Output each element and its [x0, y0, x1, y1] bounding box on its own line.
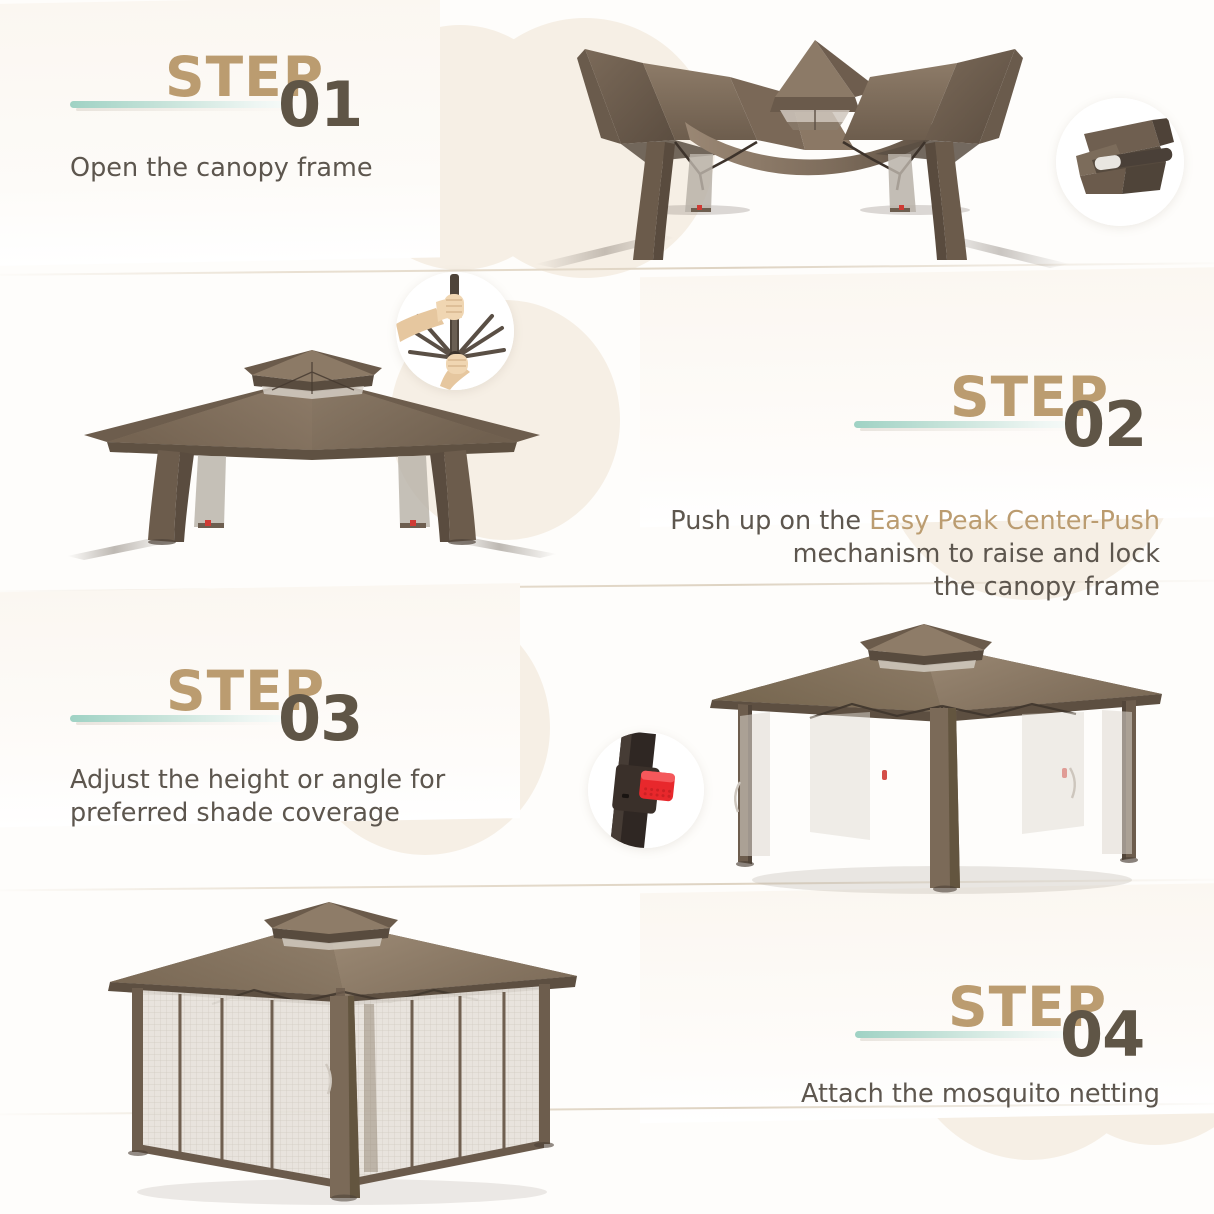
step-block-03: STEP 03 Adjust the height or angle for p… [70, 662, 510, 752]
step-number-label: 04 [1060, 1004, 1144, 1066]
step-heading-02: STEP 02 [640, 368, 1160, 458]
step-description-04: Attach the mosquito netting [760, 1078, 1160, 1111]
step-description-03: Adjust the height or angle for preferred… [70, 764, 510, 830]
infographic-page: STEP 01 Open the canopy frame [0, 0, 1214, 1214]
hand-center-push-illustration [396, 272, 514, 390]
step-heading-03: STEP 03 [70, 662, 510, 752]
gazebo-netting-illustration [82, 892, 600, 1210]
step-block-04: STEP 04 Attach the mosquito netting [760, 978, 1160, 1068]
gazebo-partially-open-illustration [525, 22, 1085, 277]
step-block-01: STEP 01 Open the canopy frame [70, 48, 500, 138]
photo-gazebo-frame-partially-open [525, 22, 1085, 277]
step-description-suffix: mechanism to raise and lock the canopy f… [793, 539, 1160, 602]
corner-pole-detail-inset [1056, 98, 1184, 226]
step-heading-01: STEP 01 [70, 48, 500, 138]
photo-gazebo-full-height [692, 612, 1200, 900]
step-description-prefix: Push up on the [670, 506, 869, 536]
photo-gazebo-with-mosquito-netting [82, 892, 600, 1210]
step-number-label: 03 [278, 688, 362, 750]
step-number-label: 01 [278, 74, 362, 136]
red-lever-illustration [588, 732, 704, 848]
step-description-01: Open the canopy frame [70, 152, 500, 185]
gazebo-full-height-illustration [692, 612, 1200, 900]
step-heading-04: STEP 04 [760, 978, 1160, 1068]
step-description-highlight: Easy Peak Center-Push [869, 506, 1160, 536]
step-description-02: Push up on the Easy Peak Center-Push mec… [640, 472, 1160, 605]
step-block-02: STEP 02 Push up on the Easy Peak Center-… [640, 368, 1160, 458]
corner-pole-detail-illustration [1056, 98, 1184, 226]
step-number-label: 02 [1062, 394, 1146, 456]
red-lever-height-adjust-inset [588, 732, 704, 848]
hand-center-push-inset [396, 272, 514, 390]
